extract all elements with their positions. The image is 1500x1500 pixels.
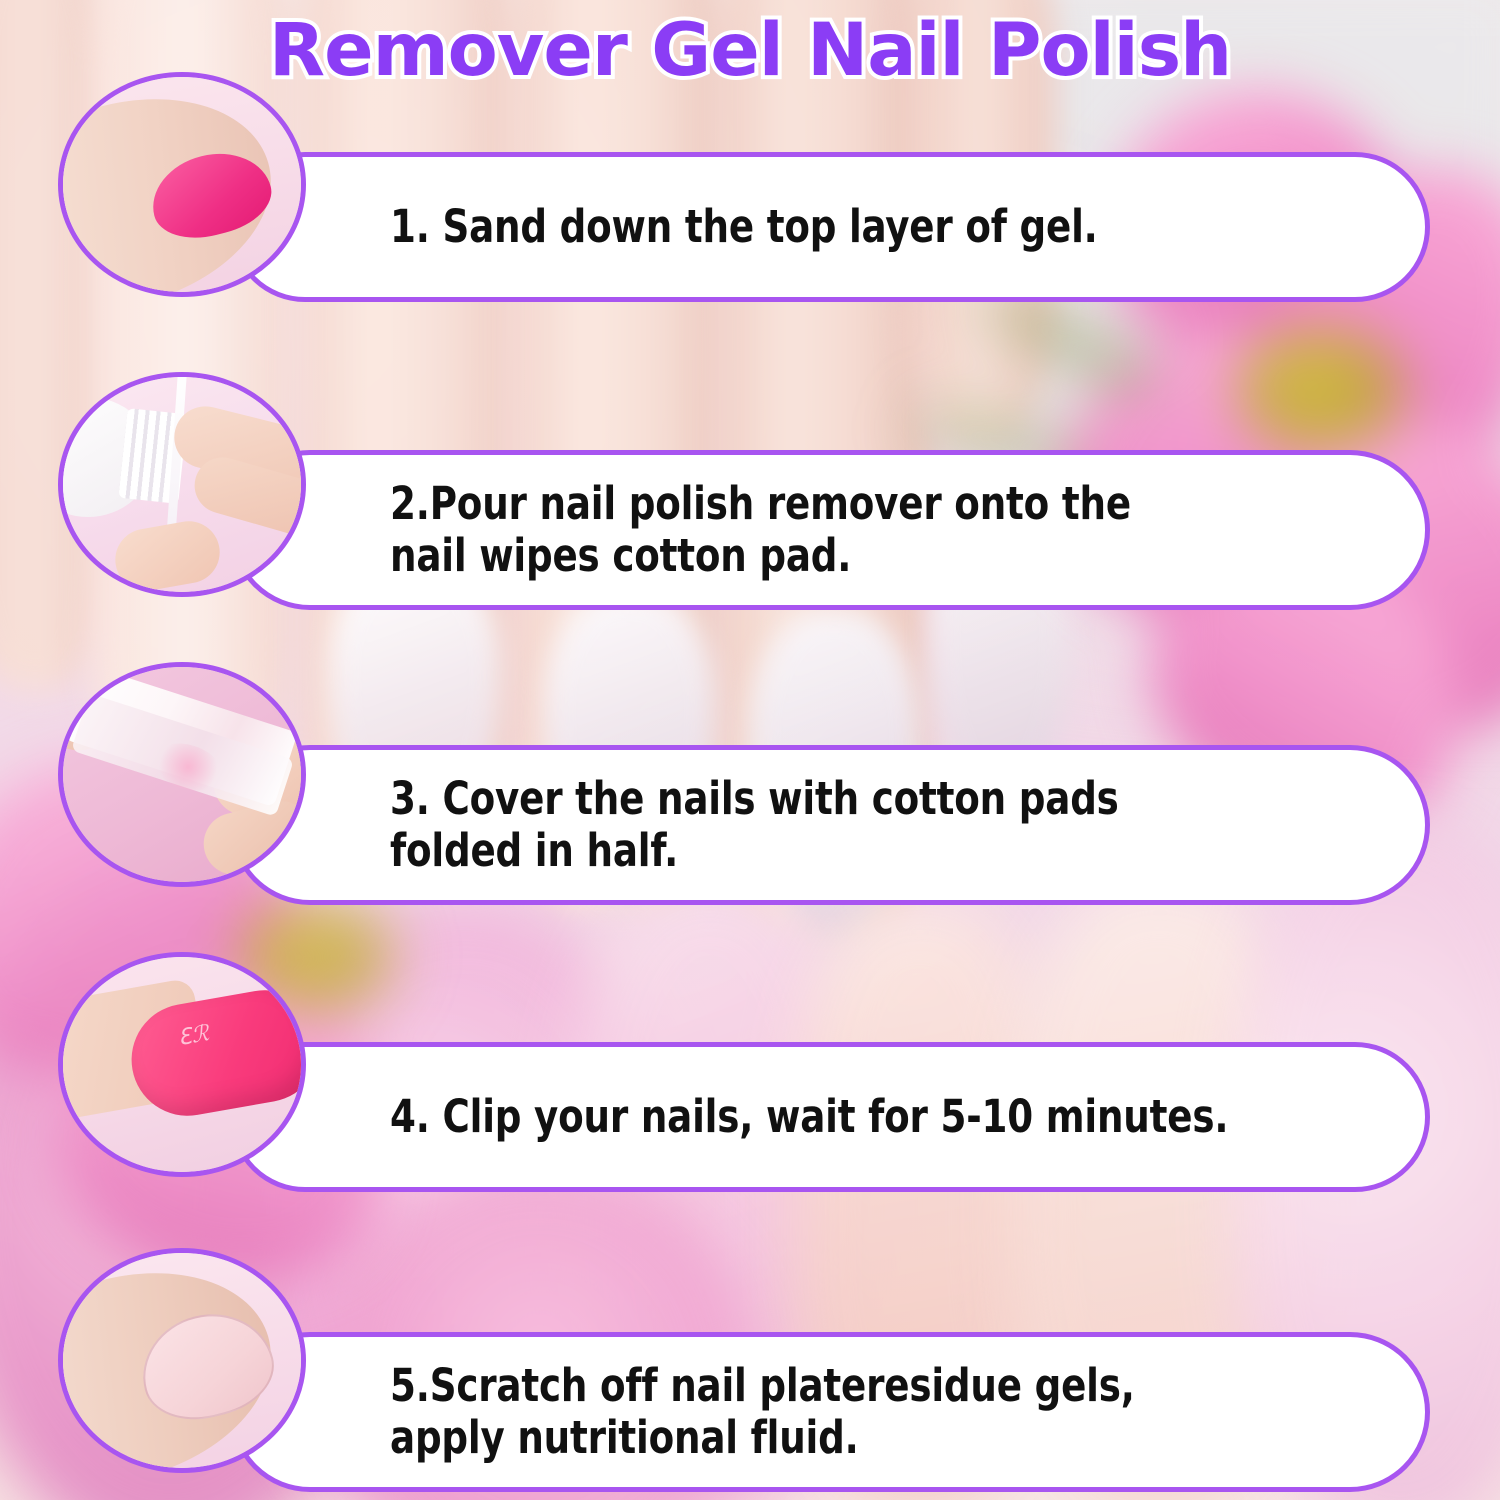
step-bubble-3: 3. Cover the nails with cotton pads fold… (230, 745, 1430, 905)
bare-natural-nail-after-removal-icon (63, 1253, 301, 1468)
step-text-5: 5.Scratch off nail plateresidue gels, ap… (390, 1360, 1135, 1464)
step-bubble-4: 4. Clip your nails, wait for 5-10 minute… (230, 1042, 1430, 1192)
step-image-2 (58, 372, 306, 597)
step-image-5 (58, 1248, 306, 1473)
step-image-1 (58, 72, 306, 297)
pouring-remover-onto-cotton-pad-icon (63, 377, 301, 592)
step-text-3: 3. Cover the nails with cotton pads fold… (390, 773, 1119, 877)
step-image-3 (58, 662, 306, 887)
finger-with-pink-gel-polish-icon (63, 77, 301, 292)
infographic-page: Remover Gel Nail Polish 1. Sand down the… (0, 0, 1500, 1500)
step-image-4: ℇℛ (58, 952, 306, 1177)
folded-cotton-pad-in-fingers-icon (63, 667, 301, 882)
step-bubble-2: 2.Pour nail polish remover onto the nail… (230, 450, 1430, 610)
step-bubble-5: 5.Scratch off nail plateresidue gels, ap… (230, 1332, 1430, 1492)
pink-nail-clip-on-finger-icon: ℇℛ (63, 957, 301, 1172)
step-bubble-1: 1. Sand down the top layer of gel. (230, 152, 1430, 302)
step-text-1: 1. Sand down the top layer of gel. (390, 201, 1098, 253)
step-text-4: 4. Clip your nails, wait for 5-10 minute… (390, 1091, 1228, 1143)
step-text-2: 2.Pour nail polish remover onto the nail… (390, 478, 1131, 582)
